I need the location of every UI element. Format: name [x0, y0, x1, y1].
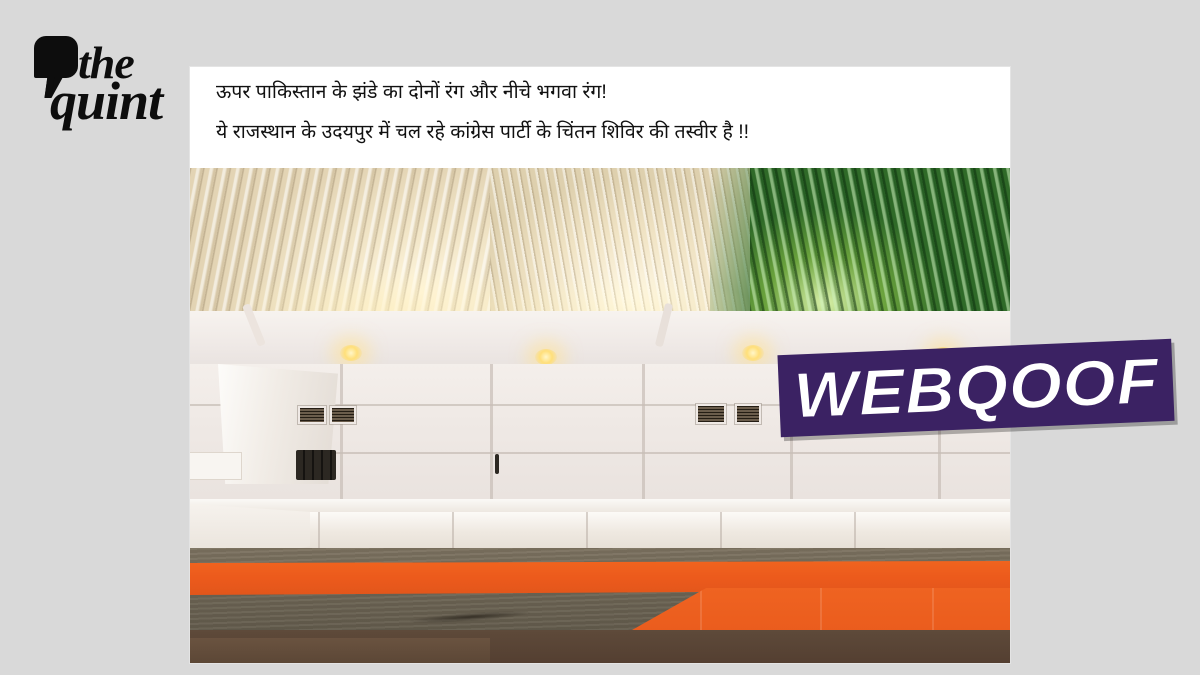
webqoof-label: WEBQOOF — [792, 348, 1160, 427]
logo-word-quint: quint — [50, 74, 162, 128]
canopy-light-glow — [190, 228, 1010, 316]
air-vent-icon — [298, 406, 326, 424]
ceiling-light — [535, 349, 557, 365]
caption-line-1: ऊपर पाकिस्तान के झंडे का दोनों रंग और नी… — [216, 81, 984, 104]
air-vent-icon — [696, 404, 726, 424]
caption-line-2: ये राजस्थान के उदयपुर में चल रहे कांग्रे… — [216, 121, 984, 144]
air-vent-icon — [330, 406, 356, 424]
tent-canopy — [190, 168, 1010, 316]
air-vent-icon — [735, 404, 761, 424]
claim-caption-block: ऊपर पाकिस्तान के झंडे का दोनों रंग और नी… — [190, 67, 1010, 168]
floor-foreground-left — [190, 638, 490, 663]
ceiling-light — [340, 345, 362, 361]
ceiling-light — [742, 345, 764, 361]
webqoof-watermark-badge: WEBQOOF — [777, 339, 1174, 437]
the-quint-logo[interactable]: the quint — [28, 32, 178, 142]
